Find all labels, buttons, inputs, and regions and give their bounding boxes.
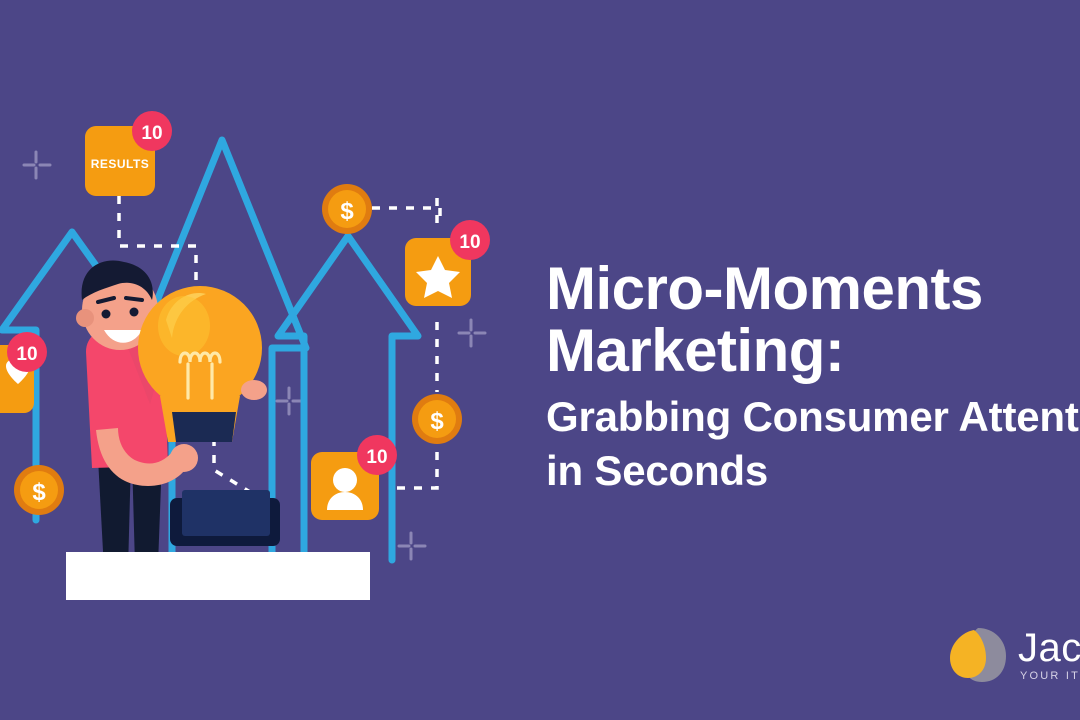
coin-middle: $: [412, 394, 462, 444]
hero-illustration: $ $ $ 10: [0, 0, 540, 720]
subheadline-line-1: Grabbing Consumer Attention: [546, 390, 1080, 444]
headline-line-1: Micro-Moments: [546, 258, 1080, 320]
logo-wordmark: Jac: [1018, 626, 1080, 671]
headline-line-2: Marketing:: [546, 320, 1080, 382]
coin-middle-symbol: $: [430, 408, 444, 435]
monitor-prop: [170, 490, 280, 546]
logo-tagline: YOUR IT AND: [1020, 670, 1080, 682]
heart-card-badge-value: 10: [16, 344, 37, 365]
logo-mark-icon: [948, 624, 1010, 686]
coin-top: $: [322, 184, 372, 234]
character-thumb: [241, 380, 267, 400]
character-eyebrow-right: [126, 298, 142, 300]
coin-bottom-left-symbol: $: [32, 479, 46, 506]
star-card-badge-value: 10: [459, 232, 480, 253]
coin-top-symbol: $: [340, 198, 354, 225]
bulb-base: [172, 412, 236, 442]
brand-logo[interactable]: Jac YOUR IT AND: [948, 618, 1080, 698]
monitor-screen: [182, 490, 270, 536]
character-hand-lower: [170, 444, 198, 472]
character-eye-left: [102, 310, 111, 319]
character-eye-right: [130, 308, 139, 317]
results-card-badge-value: 10: [141, 123, 162, 144]
platform-bar: [66, 552, 370, 600]
coin-bottom-left: $: [14, 465, 64, 515]
bulb-highlight-soft: [158, 296, 210, 356]
user-card-badge-value: 10: [366, 447, 387, 468]
subheadline-line-2: in Seconds: [546, 444, 1080, 498]
banner-canvas: $ $ $ 10: [0, 0, 1080, 720]
results-card-label: RESULTS: [91, 157, 150, 171]
person-icon-head: [333, 468, 357, 492]
headline-block: Micro-Moments Marketing: Grabbing Consum…: [546, 258, 1080, 498]
character-ear: [76, 309, 94, 327]
